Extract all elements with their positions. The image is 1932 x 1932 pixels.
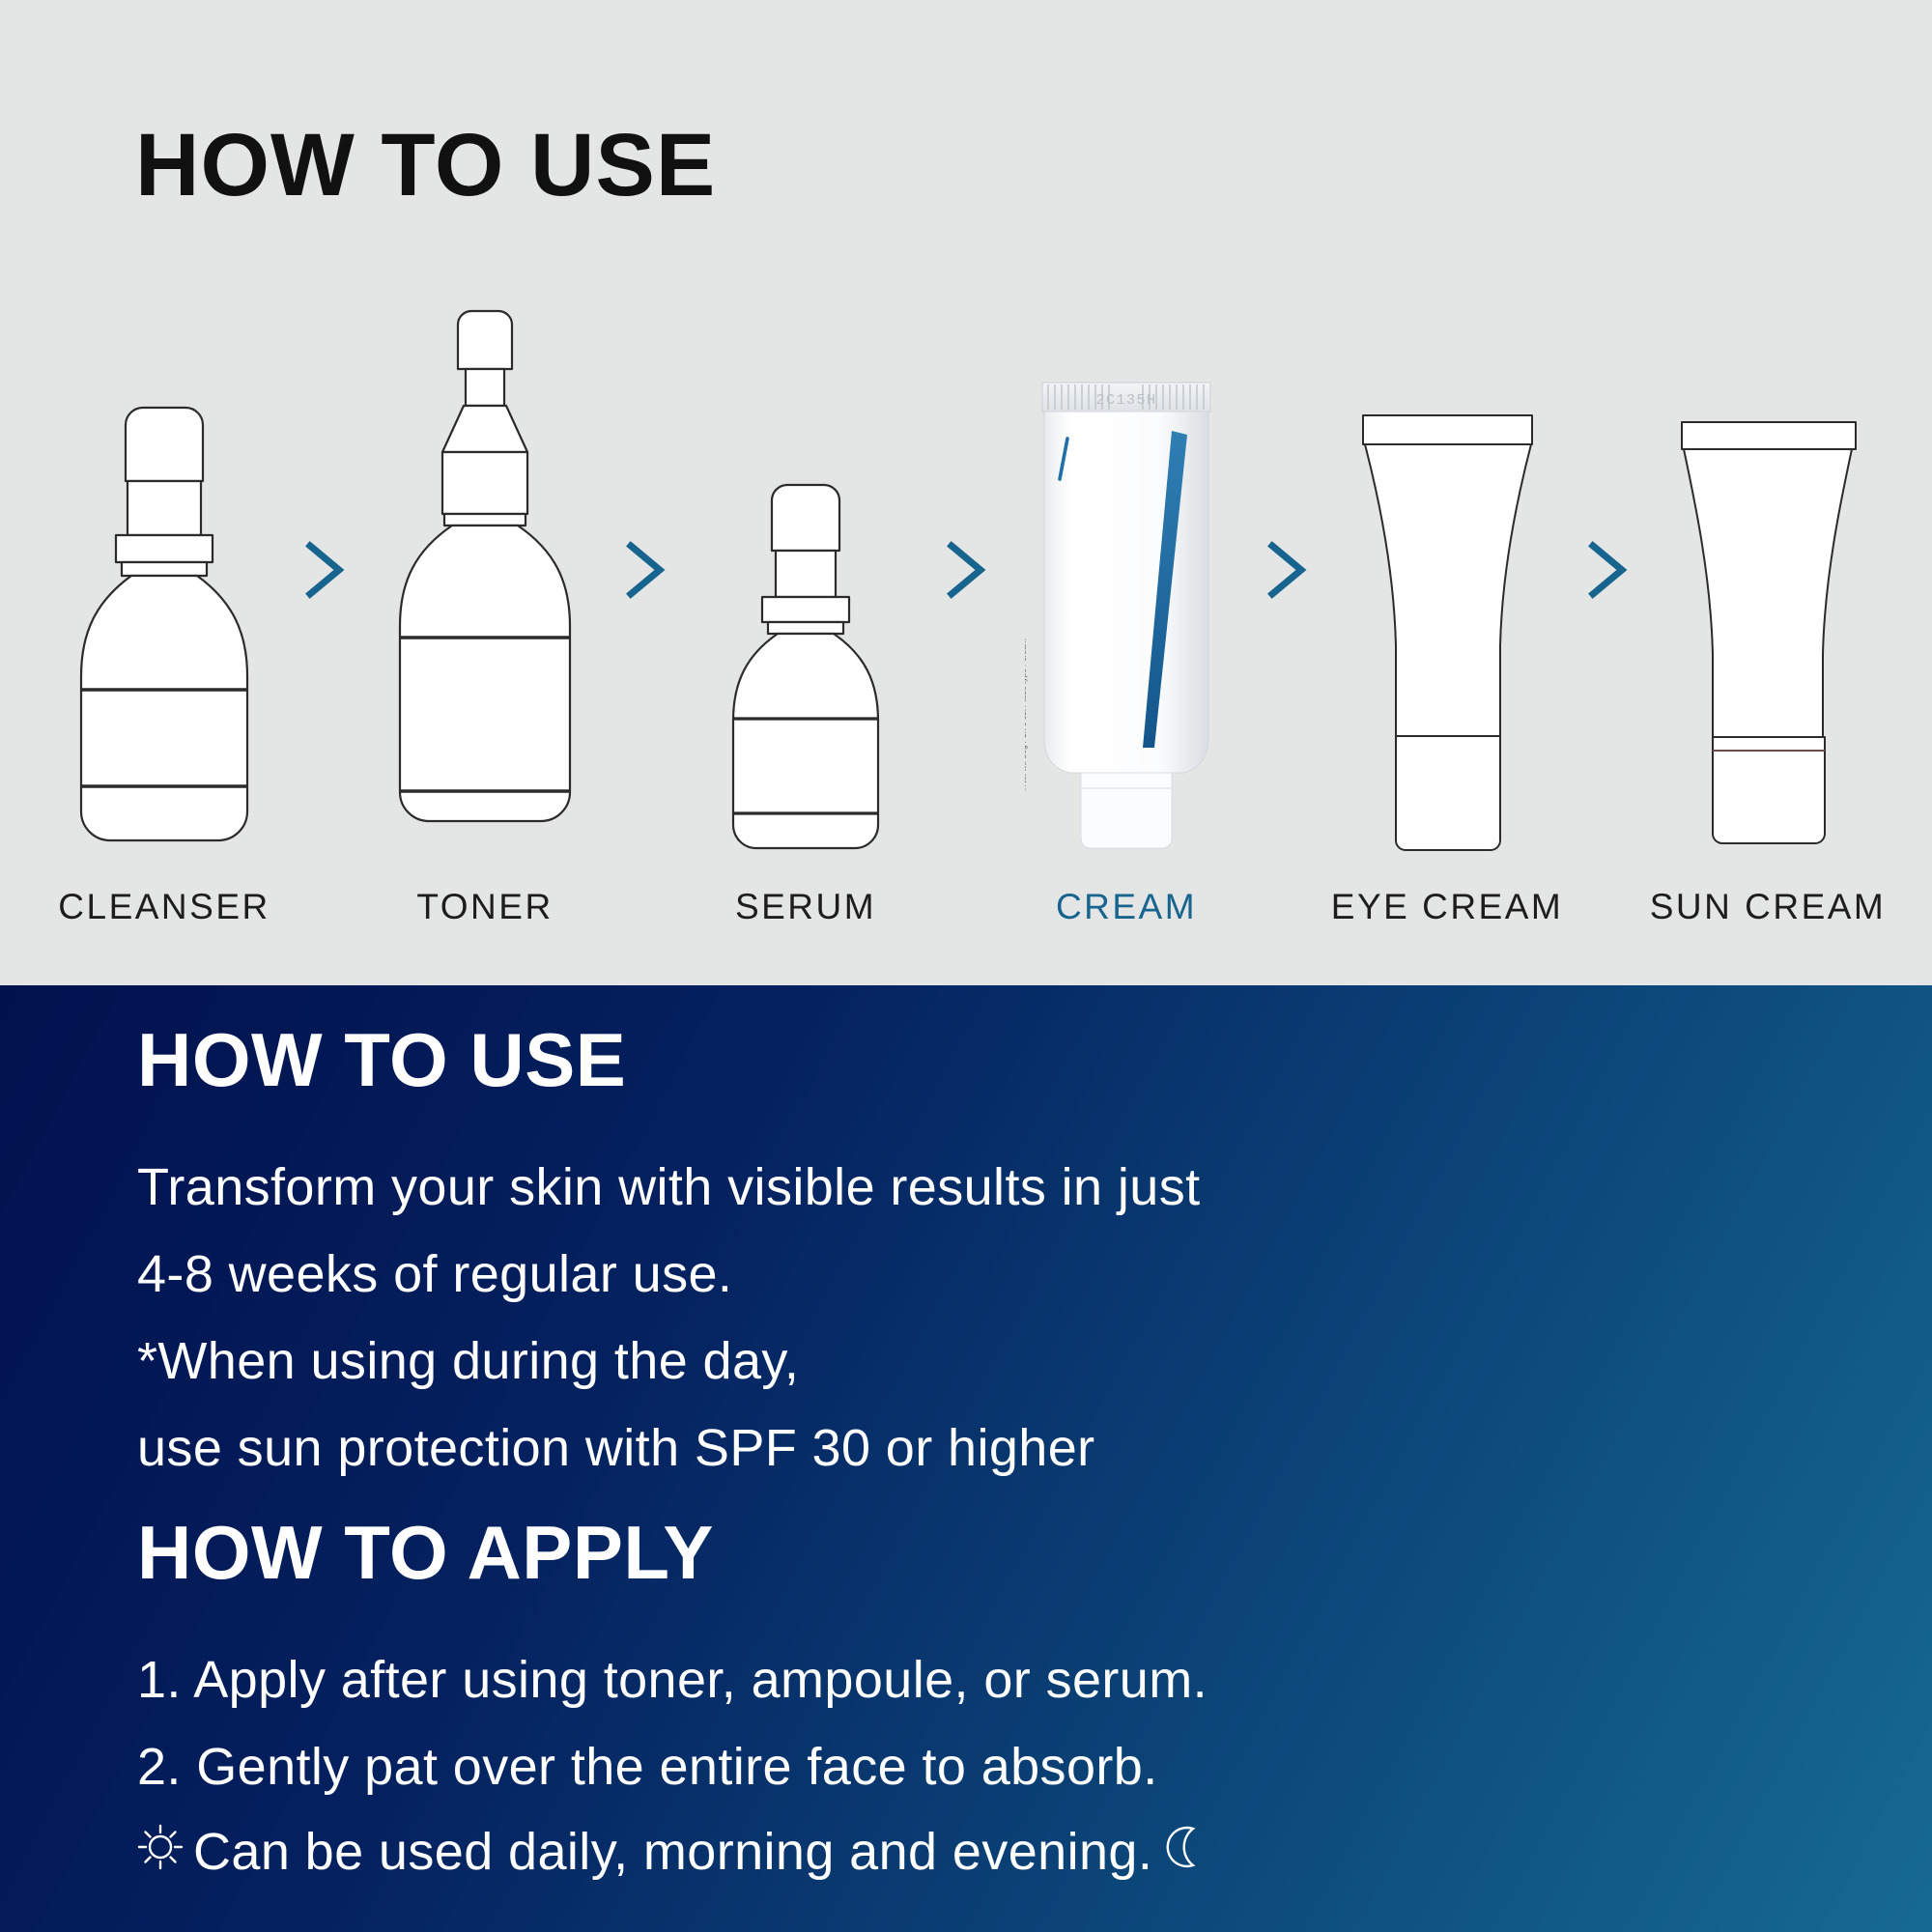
instructions-panel: HOW TO USE Transform your skin with visi… <box>0 985 1932 1932</box>
tube-patent: Tran EX-1 Patent 10-1848887 <box>1025 852 1030 854</box>
how-to-apply-heading: HOW TO APPLY <box>137 1515 714 1590</box>
apply-step: 1. Apply after using toner, ampoule, or … <box>137 1654 1207 1706</box>
infographic-page: HOW TO USE <box>0 0 1932 1932</box>
sun-cream-tube-icon <box>1664 328 1872 854</box>
chevron-right-icon <box>280 328 369 927</box>
toner-bottle-icon <box>388 303 582 854</box>
eye-cream-tube-icon <box>1344 328 1551 854</box>
tube-crimp-code: 2C135H <box>1095 392 1156 409</box>
routine-step-label: TONER <box>416 887 553 927</box>
daily-usage-line: Can be used daily, morning and evening. <box>137 1824 1207 1879</box>
sun-icon <box>137 1824 184 1879</box>
chevron-right-icon <box>1563 328 1652 927</box>
chevron-right-icon <box>922 328 1010 927</box>
chevron-right-icon <box>1242 328 1331 927</box>
routine-step-label: EYE CREAM <box>1331 887 1563 927</box>
cleanser-bottle-icon <box>68 328 261 854</box>
cream-tube-product: 2C135H It's cream enriched Tranexamic A <box>1025 328 1228 854</box>
chevron-right-icon <box>601 328 690 927</box>
use-line: Transform your skin with visible results… <box>137 1161 1201 1213</box>
routine-step-sun-cream[interactable]: SUN CREAM <box>1652 328 1884 927</box>
use-line: 4-8 weeks of regular use. <box>137 1248 732 1300</box>
page-title: HOW TO USE <box>135 121 716 210</box>
routine-steps: CLEANSER <box>0 290 1932 927</box>
serum-bottle-icon <box>724 328 888 854</box>
how-to-use-heading: HOW TO USE <box>137 1022 626 1097</box>
routine-step-cleanser[interactable]: CLEANSER <box>48 328 280 927</box>
use-line: *When using during the day, <box>137 1335 799 1387</box>
daily-usage-text: Can be used daily, morning and evening. <box>193 1826 1152 1878</box>
routine-step-label: CREAM <box>1056 887 1197 927</box>
moon-icon <box>1162 1825 1207 1878</box>
tube-net-weight: #Net wt. 50g / 1.76 oz. / tube type / cr… <box>1025 639 1028 791</box>
routine-step-label: SUN CREAM <box>1650 887 1887 927</box>
use-line: use sun protection with SPF 30 or higher <box>137 1422 1095 1474</box>
routine-step-toner[interactable]: TONER <box>369 328 601 927</box>
routine-step-serum[interactable]: SERUM <box>690 328 922 927</box>
routine-step-eye-cream[interactable]: EYE CREAM <box>1331 328 1563 927</box>
routine-step-label: CLEANSER <box>58 887 270 927</box>
routine-panel: HOW TO USE <box>0 0 1932 985</box>
routine-step-cream[interactable]: 2C135H It's cream enriched Tranexamic A <box>1010 328 1242 927</box>
apply-step: 2. Gently pat over the entire face to ab… <box>137 1741 1158 1793</box>
routine-step-label: SERUM <box>735 887 876 927</box>
